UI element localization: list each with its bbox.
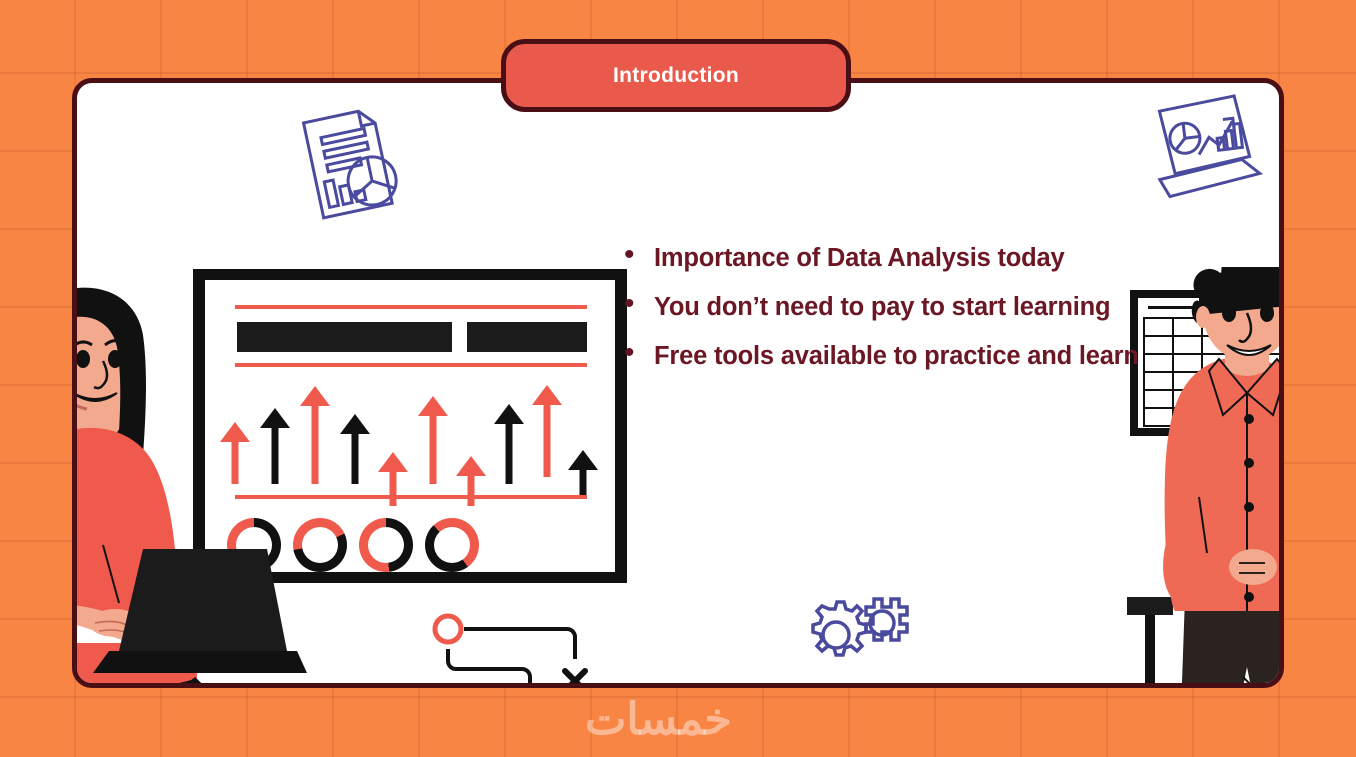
bullet-marker: •: [624, 289, 654, 319]
title-badge[interactable]: Introduction: [501, 39, 851, 112]
gears-icon: [792, 597, 912, 674]
bullet-text: Importance of Data Analysis today: [654, 236, 1064, 281]
bullet-text: You don’t need to pay to start learning: [654, 285, 1110, 330]
bullet-marker: •: [624, 338, 654, 368]
woman-with-laptop: [72, 275, 327, 688]
bullet-marker: •: [624, 240, 654, 270]
donut-chart-4: [425, 518, 479, 572]
page-title: Introduction: [613, 64, 739, 88]
list-item: • You don’t need to pay to start learnin…: [624, 285, 1154, 330]
list-item: • Importance of Data Analysis today: [624, 236, 1154, 281]
donut-chart-3: [359, 518, 413, 572]
bullet-text: Free tools available to practice and lea…: [654, 334, 1139, 379]
header-bar-right: [467, 322, 587, 352]
bullet-list: • Importance of Data Analysis today • Yo…: [624, 236, 1154, 383]
laptop-analytics-icon: [1142, 88, 1266, 209]
flowchart-icon: [417, 607, 607, 688]
man-presenter: [1127, 267, 1284, 688]
document-chart-icon: [283, 101, 409, 232]
list-item: • Free tools available to practice and l…: [624, 334, 1154, 379]
slide-panel: • Importance of Data Analysis today • Yo…: [72, 78, 1284, 688]
